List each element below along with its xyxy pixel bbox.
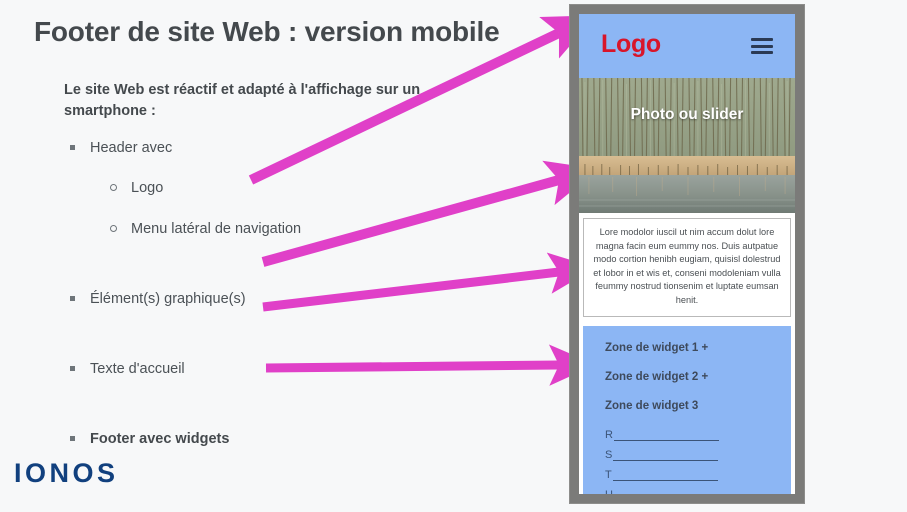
square-bullet-icon (70, 145, 75, 150)
welcome-text-block: Lore modolor iuscil ut nim accum dolut l… (583, 218, 791, 317)
intro-text: Le site Web est réactif et adapté à l'af… (64, 80, 464, 122)
square-bullet-icon (70, 366, 75, 371)
site-logo[interactable]: Logo (601, 30, 661, 59)
placeholder-letter: T (605, 469, 612, 481)
spacer (64, 160, 524, 178)
hamburger-bar (751, 51, 773, 54)
widget-zone-1[interactable]: Zone de widget 1 + (583, 342, 791, 354)
list-item-label: Footer avec widgets (90, 429, 229, 449)
footer-placeholder-line: R (583, 429, 791, 441)
list-item-label: Élément(s) graphique(s) (90, 289, 246, 309)
list-item: Élément(s) graphique(s) (64, 289, 524, 309)
hamburger-bar (751, 45, 773, 48)
placeholder-letter: R (605, 429, 613, 441)
list-item: Menu latéral de navigation (64, 219, 524, 239)
welcome-text: Lore modolor iuscil ut nim accum dolut l… (591, 226, 783, 308)
list-item-label: Texte d'accueil (90, 359, 185, 379)
square-bullet-icon (70, 296, 75, 301)
slide-canvas: Footer de site Web : version mobile Le s… (0, 0, 907, 512)
bullet-list: Header avec Logo Menu latéral de navigat… (64, 138, 524, 452)
phone-screen: Logo (579, 14, 795, 494)
list-item: Texte d'accueil (64, 359, 524, 379)
spacer (64, 381, 524, 405)
hamburger-icon[interactable] (751, 38, 773, 54)
site-header: Logo (579, 14, 795, 78)
footer-placeholder-line: T (583, 469, 791, 481)
circle-bullet-icon (110, 184, 117, 191)
placeholder-rule (614, 493, 719, 494)
list-item: Footer avec widgets (64, 429, 524, 449)
phone-mockup-frame: Logo (569, 4, 805, 504)
list-item-label: Logo (131, 178, 163, 198)
spacer (64, 265, 524, 289)
photo-slider-label: Photo ou slider (579, 106, 795, 124)
footer-widget-area: Zone de widget 1 + Zone de widget 2 + Zo… (583, 326, 791, 494)
page-title: Footer de site Web : version mobile (34, 16, 554, 48)
circle-bullet-icon (110, 225, 117, 232)
spacer (64, 335, 524, 359)
placeholder-rule (613, 453, 718, 461)
placeholder-letter: S (605, 449, 612, 461)
spacer (64, 311, 524, 335)
spacer (64, 405, 524, 429)
widget-zone-2[interactable]: Zone de widget 2 + (583, 371, 791, 383)
footer-placeholder-line: U (583, 489, 791, 494)
square-bullet-icon (70, 436, 75, 441)
list-item-label: Header avec (90, 138, 172, 158)
hamburger-bar (751, 38, 773, 41)
spacer (64, 241, 524, 265)
ionos-logo: IONOS (14, 458, 119, 489)
footer-placeholder-line: S (583, 449, 791, 461)
spacer (64, 201, 524, 219)
list-item-label: Menu latéral de navigation (131, 219, 301, 239)
list-item: Logo (64, 178, 524, 198)
placeholder-rule (613, 473, 718, 481)
widget-zone-3[interactable]: Zone de widget 3 (583, 400, 791, 412)
placeholder-letter: U (605, 489, 613, 494)
photo-illustration (579, 78, 795, 213)
placeholder-rule (614, 433, 719, 441)
list-item: Header avec (64, 138, 524, 158)
photo-slider[interactable]: Photo ou slider (579, 78, 795, 213)
